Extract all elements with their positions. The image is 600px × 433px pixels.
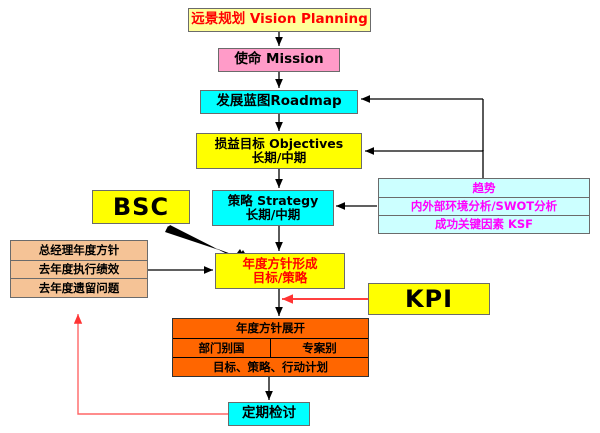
inputs-row-last-year-issues: 去年度遗留问题 (11, 278, 147, 297)
node-kpi[interactable]: KPI (368, 283, 490, 315)
deployment-footer-label: 目标、策略、行动计划 (213, 361, 328, 374)
node-objectives-line1: 损益目标 Objectives (197, 137, 361, 151)
inputs-row-last-year-performance-label: 去年度执行绩效 (39, 263, 120, 276)
node-mission-label: 使命 Mission (219, 52, 339, 67)
node-objectives[interactable]: 损益目标 Objectives 长期/中期 (196, 133, 362, 169)
node-strategy-line1: 策略 Strategy (213, 194, 333, 208)
deployment-footer-row: 目标、策略、行动计划 (173, 357, 368, 376)
node-bsc[interactable]: BSC (92, 190, 190, 224)
deployment-col-project-label: 专案别 (302, 342, 337, 355)
inputs-row-last-year-issues-label: 去年度遗留问题 (39, 282, 120, 295)
node-vision-planning[interactable]: 远景规划 Vision Planning (188, 8, 371, 32)
node-roadmap-label: 发展蓝图Roadmap (201, 94, 357, 109)
analysis-row-trend: 趋势 (379, 179, 589, 197)
analysis-row-ksf: 成功关键因素 KSF (379, 215, 589, 233)
deployment-col-department: 部门别国 (173, 339, 270, 357)
deployment-columns-row: 部门别国 专案别 (173, 338, 368, 357)
node-bsc-label: BSC (93, 194, 189, 221)
node-periodic-review[interactable]: 定期检讨 (228, 402, 310, 426)
inputs-row-gm-policy-label: 总经理年度方针 (39, 244, 120, 257)
node-roadmap[interactable]: 发展蓝图Roadmap (200, 90, 358, 114)
analysis-row-trend-label: 趋势 (473, 182, 496, 195)
inputs-row-gm-policy: 总经理年度方针 (11, 241, 147, 260)
deployment-col-project: 专案别 (270, 339, 368, 357)
analysis-row-swot: 内外部环境分析/SWOT分析 (379, 197, 589, 215)
node-policy-deployment[interactable]: 年度方针展开 部门别国 专案别 目标、策略、行动计划 (172, 318, 369, 377)
inputs-row-last-year-performance: 去年度执行绩效 (11, 260, 147, 279)
node-mission[interactable]: 使命 Mission (218, 48, 340, 72)
analysis-row-swot-label: 内外部环境分析/SWOT分析 (411, 200, 557, 213)
deployment-header-row: 年度方针展开 (173, 319, 368, 338)
node-annual-inputs[interactable]: 总经理年度方针 去年度执行绩效 去年度遗留问题 (10, 240, 148, 298)
analysis-row-ksf-label: 成功关键因素 KSF (435, 218, 533, 231)
deployment-col-department-label: 部门别国 (199, 342, 245, 355)
node-strategy[interactable]: 策略 Strategy 长期/中期 (212, 190, 334, 226)
deployment-header-label: 年度方针展开 (236, 322, 305, 335)
node-vision-planning-label: 远景规划 Vision Planning (189, 12, 370, 27)
node-annual-policy-line1: 年度方针形成 (216, 257, 344, 271)
node-environment-analysis[interactable]: 趋势 内外部环境分析/SWOT分析 成功关键因素 KSF (378, 178, 590, 234)
node-periodic-review-label: 定期检讨 (229, 406, 309, 421)
node-objectives-line2: 长期/中期 (197, 151, 361, 165)
node-strategy-line2: 长期/中期 (213, 208, 333, 222)
node-annual-policy-line2: 目标/策略 (216, 271, 344, 285)
node-annual-policy-formation[interactable]: 年度方针形成 目标/策略 (215, 253, 345, 289)
node-kpi-label: KPI (369, 286, 489, 313)
